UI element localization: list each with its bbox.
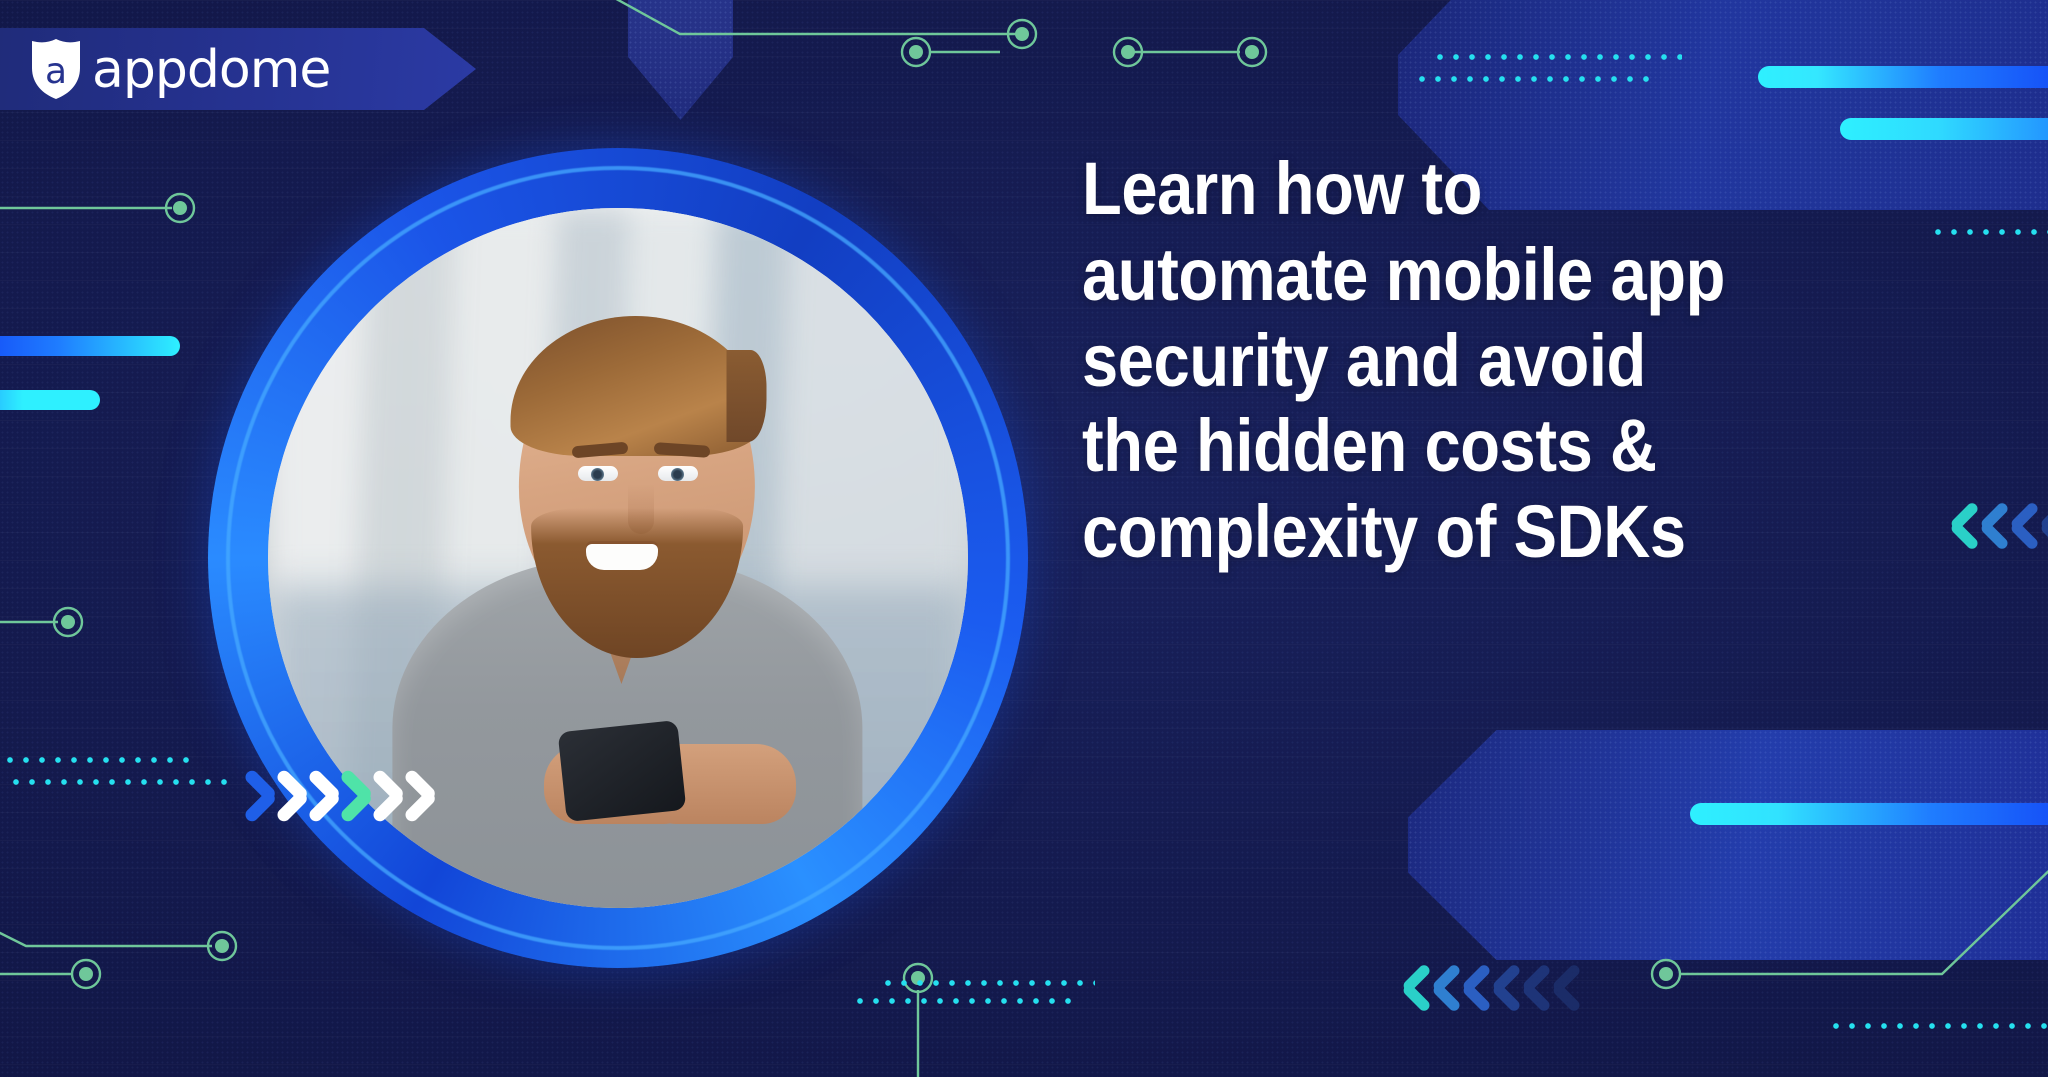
dotted-line-bottom-left-b: [8, 778, 233, 786]
headline-line-3: security and avoid: [1082, 318, 1892, 404]
headline-line-5: complexity of SDKs: [1082, 489, 1892, 575]
headline-line-4: the hidden costs &: [1082, 403, 1892, 489]
dotted-line-top-right-a: [1432, 53, 1682, 61]
subject-smile: [586, 544, 658, 570]
brand-logo-banner[interactable]: a appdome: [0, 28, 476, 110]
gradient-bar-top-right-1: [1758, 66, 2048, 88]
subject-eye-right: [658, 466, 698, 481]
appdome-promo-banner: a appdome Learn how to automate mobile a…: [0, 0, 2048, 1077]
page-title: Learn how to automate mobile app securit…: [1082, 146, 1892, 575]
hex-shape-bottom-right: [1408, 730, 2048, 960]
subject-hair: [511, 316, 761, 456]
gradient-bar-bottom-right: [1690, 803, 2048, 825]
chevron-left-icon: [1512, 962, 1538, 1014]
chevron-left-icon: [1482, 962, 1508, 1014]
chevron-left-icon: [1392, 962, 1418, 1014]
hex-texture: [1408, 730, 2048, 960]
chevron-left-icon: [1542, 962, 1568, 1014]
dotted-line-right: [1930, 228, 2048, 236]
chevron-left-icon: [1422, 962, 1448, 1014]
chevron-left-icon: [1452, 962, 1478, 1014]
chevron-left-icon: [2030, 500, 2048, 552]
chevron-left-icon: [2000, 500, 2026, 552]
chevron-group-bottom-right: [1392, 962, 1572, 1014]
gradient-bar-left-2: [0, 390, 100, 410]
brand-wordmark: appdome: [92, 44, 330, 96]
dotted-line-bottom-center-b: [852, 997, 1072, 1005]
dotted-line-bottom-right: [1828, 1022, 2048, 1030]
shield-a-icon: a: [28, 38, 84, 100]
headline-line-1: Learn how to: [1082, 146, 1892, 232]
headline-line-2: automate mobile app: [1082, 232, 1892, 318]
gradient-bar-top-right-2: [1840, 118, 2048, 140]
dotted-line-top-right-b: [1414, 75, 1654, 83]
gradient-bar-left-1: [0, 336, 180, 356]
dotted-line-bottom-left-a: [2, 756, 192, 764]
chevron-left-icon: [1940, 500, 1966, 552]
chevron-group-mid-right: [1940, 500, 2048, 552]
dotted-line-bottom-center-a: [880, 979, 1095, 987]
chevron-right-icon: [412, 766, 446, 826]
subject-smartphone: [558, 720, 687, 822]
portrait-circle: [208, 148, 1028, 968]
subject-eye-left: [578, 466, 618, 481]
chevron-group-photo: [252, 766, 442, 826]
chevron-left-icon: [1970, 500, 1996, 552]
svg-text:a: a: [45, 51, 67, 92]
